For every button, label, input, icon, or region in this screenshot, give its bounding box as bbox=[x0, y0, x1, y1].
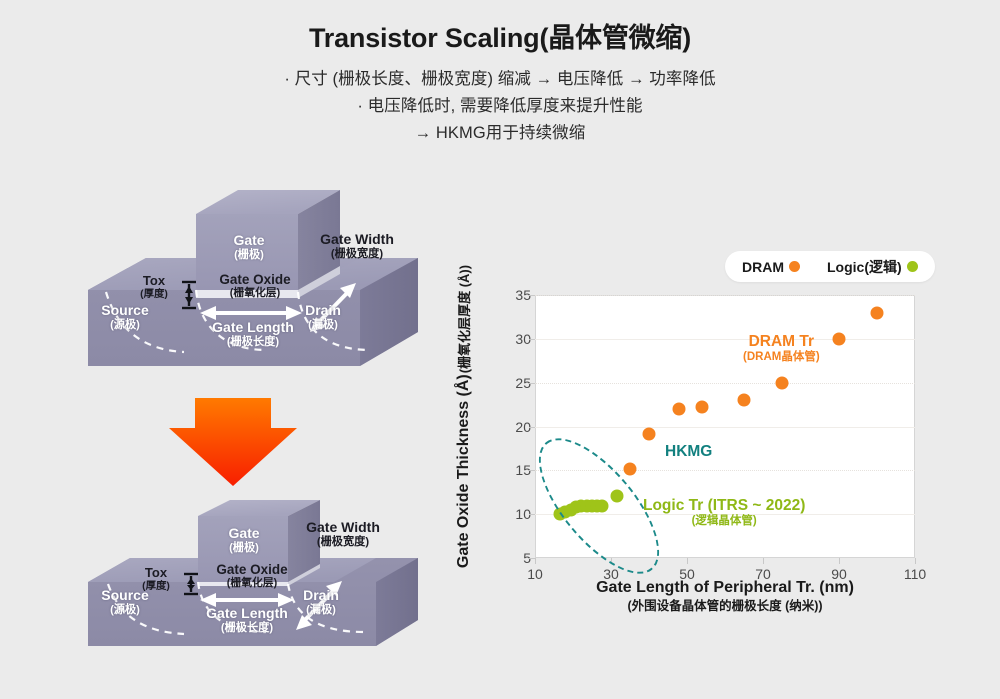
data-point-dram-0[interactable] bbox=[624, 463, 637, 476]
y-axis-title-en: Gate Oxide Thickness (Å) bbox=[455, 374, 473, 568]
data-point-dram-4[interactable] bbox=[738, 394, 751, 407]
data-point-dram-3[interactable] bbox=[696, 401, 709, 414]
data-point-dram-1[interactable] bbox=[643, 427, 656, 440]
data-point-dram-7[interactable] bbox=[871, 306, 884, 319]
data-point-dram-6[interactable] bbox=[833, 332, 846, 345]
dram-series-label: DRAM Tr (DRAM晶体管) bbox=[743, 333, 820, 365]
x-axis-title-en: Gate Length of Peripheral Tr. (nm) bbox=[535, 578, 915, 598]
legend-item-logic[interactable]: Logic(逻辑) bbox=[827, 257, 918, 277]
scatter-chart: DRAM Logic(逻辑) (栅氧化层厚度 (Å)) Gate Oxide T… bbox=[440, 245, 990, 645]
y-tick-label-30: 30 bbox=[491, 331, 531, 347]
data-point-dram-2[interactable] bbox=[673, 402, 686, 415]
scaling-arrow bbox=[168, 396, 298, 492]
y-tick-mark-10 bbox=[529, 514, 535, 515]
data-point-dram-5[interactable] bbox=[776, 376, 789, 389]
y-tick-label-5: 5 bbox=[491, 550, 531, 566]
legend-label-dram: DRAM bbox=[742, 259, 784, 275]
hkmg-label: HKMG bbox=[665, 443, 712, 461]
x-tick-mark-50 bbox=[687, 558, 688, 564]
y-tick-mark-30 bbox=[529, 339, 535, 340]
transistor-3d-graphic-small bbox=[88, 500, 418, 665]
gridline-y-30 bbox=[535, 339, 915, 340]
bullet-line-3: → HKMG用于持续微缩 bbox=[0, 120, 1000, 147]
logic-series-label-main: Logic Tr (ITRS ~ 2022) bbox=[643, 497, 805, 515]
y-tick-label-25: 25 bbox=[491, 375, 531, 391]
logic-series-label-sub: (逻辑晶体管) bbox=[643, 515, 805, 529]
transistor-3d-graphic bbox=[88, 180, 418, 400]
plot-area-wrapper: 51015202530351030507090110 HKMG DRAM Tr … bbox=[535, 295, 915, 558]
legend-label-logic: Logic(逻辑) bbox=[827, 257, 902, 277]
gridline-y-35 bbox=[535, 295, 915, 297]
x-axis-title-cn: (外围设备晶体管的栅极长度 (纳米)) bbox=[535, 598, 915, 614]
x-tick-mark-10 bbox=[535, 558, 536, 564]
x-tick-mark-70 bbox=[763, 558, 764, 564]
x-tick-mark-90 bbox=[839, 558, 840, 564]
y-axis-title-cn: (栅氧化层厚度 (Å)) bbox=[455, 264, 474, 372]
y-tick-label-10: 10 bbox=[491, 506, 531, 522]
bullet-line-2: · 电压降低时, 需要降低厚度来提升性能 bbox=[0, 93, 1000, 120]
gridline-y-25 bbox=[535, 383, 915, 385]
y-tick-label-35: 35 bbox=[491, 287, 531, 303]
gridline-y-20 bbox=[535, 427, 915, 428]
y-tick-label-20: 20 bbox=[491, 419, 531, 435]
scaled-transistor-diagram: Gate (栅极) Gate Oxide (栅氧化层) Gate Width (… bbox=[88, 500, 418, 665]
y-tick-mark-20 bbox=[529, 427, 535, 428]
y-tick-mark-15 bbox=[529, 470, 535, 471]
dram-series-label-sub: (DRAM晶体管) bbox=[743, 351, 820, 365]
slide-canvas: Transistor Scaling(晶体管微缩) · 尺寸 (栅极长度、栅极宽… bbox=[0, 0, 1000, 699]
bullet-list: · 尺寸 (栅极长度、栅极宽度) 缩减 → 电压降低 → 功率降低 · 电压降低… bbox=[0, 66, 1000, 146]
legend-dot-logic bbox=[907, 261, 918, 272]
x-axis-title: Gate Length of Peripheral Tr. (nm) (外围设备… bbox=[535, 578, 915, 614]
bullet-line-1: · 尺寸 (栅极长度、栅极宽度) 缩减 → 电压降低 → 功率降低 bbox=[0, 66, 1000, 93]
y-tick-label-15: 15 bbox=[491, 462, 531, 478]
y-tick-mark-35 bbox=[529, 295, 535, 296]
chart-legend: DRAM Logic(逻辑) bbox=[725, 251, 935, 282]
y-axis-title: (栅氧化层厚度 (Å)) Gate Oxide Thickness (Å) bbox=[438, 271, 490, 561]
y-tick-mark-25 bbox=[529, 383, 535, 384]
dram-series-label-main: DRAM Tr bbox=[743, 333, 820, 351]
page-title: Transistor Scaling(晶体管微缩) bbox=[0, 22, 1000, 54]
down-arrow-icon bbox=[168, 396, 298, 492]
large-transistor-diagram: Gate (栅极) Gate Oxide (栅氧化层) Gate Width (… bbox=[88, 180, 418, 400]
header: Transistor Scaling(晶体管微缩) · 尺寸 (栅极长度、栅极宽… bbox=[0, 22, 1000, 147]
legend-item-dram[interactable]: DRAM bbox=[742, 259, 800, 275]
legend-dot-dram bbox=[789, 261, 800, 272]
logic-series-label: Logic Tr (ITRS ~ 2022) (逻辑晶体管) bbox=[643, 497, 805, 529]
x-tick-mark-110 bbox=[915, 558, 916, 564]
